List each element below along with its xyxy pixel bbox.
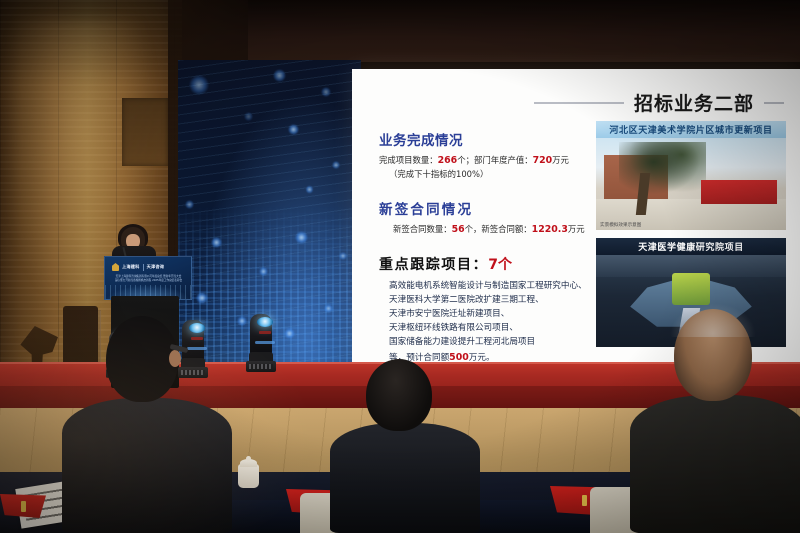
aerial-courtyard: [672, 273, 710, 304]
podium-logo-row: 上海建科 天津咨询: [112, 263, 185, 271]
tracking-heading: 重点跟踪项目：7个: [379, 254, 594, 274]
podium-brand-primary: 上海建科: [122, 264, 140, 270]
list-item: 高效能电机系统智能设计与制造国家工程研究中心、: [389, 280, 594, 294]
project-caption: 河北区天津美术学院片区城市更新项目: [596, 121, 786, 138]
podium-brand-secondary: 天津咨询: [147, 264, 165, 270]
section-line: 新签合同数量：56个，新签合同额：1220.3万元: [379, 223, 594, 237]
bokeh-dot: [196, 292, 208, 304]
tracking-project-list: 高效能电机系统智能设计与制造国家工程研究中心、 天津医科大学第二医院改扩建三期工…: [379, 280, 594, 365]
light-brand-label: [191, 337, 203, 340]
bokeh-dot: [259, 267, 268, 276]
project-card-urban-renewal: 河北区天津美术学院片区城市更新项目 实景模拟效果示意图: [596, 121, 786, 230]
bokeh-dot: [288, 124, 299, 135]
podium-branding-panel: 上海建科 天津咨询 天津上海建科咨询集团有限公司年度总结 暨新年开局大会 凝心聚…: [104, 256, 192, 300]
bokeh-dot: [295, 231, 308, 244]
podium-subtitle-line: 凝心聚力开新局奋楫扬帆启新程 2025年度工作总结表彰会: [113, 279, 184, 283]
bokeh-dot: [244, 112, 253, 121]
spacer: [379, 236, 594, 254]
section-business-completion: 业务完成情况 完成项目数量：266个；部门年度产值：720万元 （完成下十指标的…: [379, 129, 594, 180]
header-rule-right: [764, 102, 784, 104]
header-rule-left: [534, 102, 624, 104]
person-head: [366, 359, 432, 431]
light-lens: [189, 323, 205, 333]
podium-subtitle: 天津上海建科咨询集团有限公司年度总结 暨新年开局大会 凝心聚力开新局奋楫扬帆启新…: [113, 275, 184, 283]
light-head: [250, 314, 272, 356]
section-heading: 新签合同情况: [379, 198, 594, 218]
figure-value: 266: [438, 155, 458, 166]
bokeh-dot: [332, 161, 340, 169]
section-line: （完成下十指标的100%）: [379, 168, 594, 180]
audience-person-center: [330, 423, 480, 533]
figure-value: 1220.3: [532, 224, 568, 235]
light-base: [178, 367, 208, 378]
cup-body: [238, 464, 259, 488]
wall-acoustic-panel: [122, 98, 168, 166]
rendering-tree-canopy: [619, 142, 706, 199]
tracking-count: 7个: [488, 257, 512, 273]
cup-knob: [246, 456, 251, 461]
figure-value: 56: [452, 224, 465, 235]
slide-title: 招标业务二部: [634, 89, 754, 116]
stage-light-center: [246, 310, 276, 372]
list-item: 天津市安宁医院迁址新建项目、: [389, 308, 594, 322]
light-led-strip: [187, 347, 207, 350]
list-item: 国家储备能力建设提升工程河北局项目: [389, 336, 594, 350]
section-key-tracking: 重点跟踪项目：7个 高效能电机系统智能设计与制造国家工程研究中心、 天津医科大学…: [379, 254, 594, 365]
audience-person-left: [62, 398, 232, 533]
figure-value: 720: [533, 155, 553, 166]
red-sash-left: [0, 494, 46, 518]
spacer: [379, 180, 594, 198]
conference-photo-scene: 招标业务二部 业务完成情况 完成项目数量：266个；部门年度产值：720万元 （…: [0, 0, 800, 533]
project-caption: 天津医学健康研究院项目: [596, 238, 786, 255]
tracking-heading-label: 重点跟踪项目：: [379, 257, 488, 273]
audience-person-right: [630, 395, 800, 533]
list-item: 天津枢纽环线铁路有限公司项目、: [389, 322, 594, 336]
brand-divider: [143, 264, 144, 271]
project-rendering-image: 实景模拟效果示意图: [596, 138, 786, 230]
light-head: [182, 320, 204, 362]
list-item: 天津医科大学第二医院改扩建三期工程、: [389, 294, 594, 308]
image-credit: 实景模拟效果示意图: [600, 222, 641, 228]
light-lens: [257, 317, 273, 327]
section-new-contracts: 新签合同情况 新签合同数量：56个，新签合同额：1220.3万元: [379, 198, 594, 237]
section-line: 完成项目数量：266个；部门年度产值：720万元: [379, 154, 594, 168]
tea-cup: [238, 456, 259, 488]
light-base: [246, 361, 276, 372]
slide-body-left: 业务完成情况 完成项目数量：266个；部门年度产值：720万元 （完成下十指标的…: [379, 129, 594, 365]
company-logo-icon: [112, 263, 119, 271]
slide-header: 招标业务二部: [534, 89, 784, 116]
person-ear: [169, 350, 181, 367]
person-head: [106, 316, 178, 402]
light-brand-label: [259, 331, 271, 334]
light-led-strip: [255, 341, 275, 344]
person-hairline: [670, 303, 756, 337]
section-heading: 业务完成情况: [379, 129, 594, 149]
bokeh-dot: [211, 237, 222, 248]
